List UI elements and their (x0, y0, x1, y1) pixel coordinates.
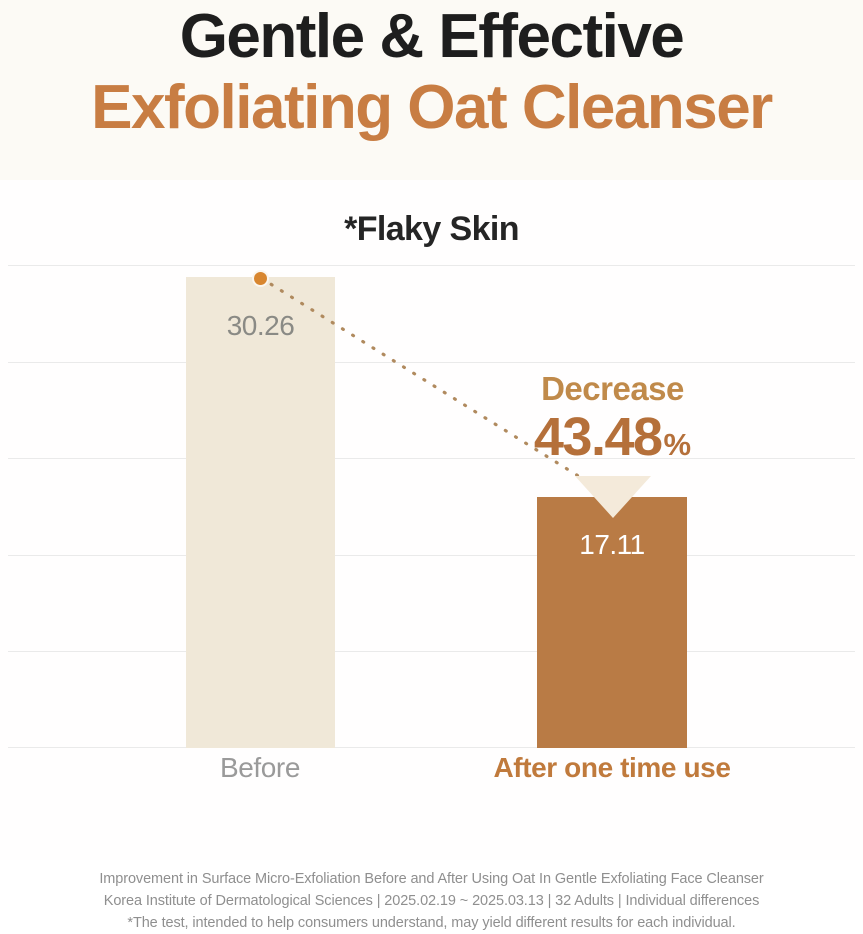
decrease-callout: Decrease 43.48 % (480, 370, 745, 518)
bar-value-after: 17.11 (537, 529, 687, 561)
down-arrow-icon (575, 476, 651, 518)
gridline (8, 555, 855, 556)
decrease-unit: % (664, 427, 692, 463)
decrease-label: Decrease (480, 370, 745, 408)
gridline (8, 747, 855, 748)
headline-primary: Gentle & Effective (180, 2, 684, 71)
gridline (8, 651, 855, 652)
chart-title: *Flaky Skin (0, 210, 863, 249)
bar-value-before: 30.26 (186, 310, 335, 342)
data-point-marker-before (252, 270, 269, 287)
gridline (8, 362, 855, 363)
headline-secondary: Exfoliating Oat Cleanser (91, 71, 772, 145)
gridline (8, 265, 855, 266)
bar-before[interactable]: 30.26 (186, 277, 335, 748)
footnote-line-3: *The test, intended to help consumers un… (0, 912, 863, 934)
axis-label-before: Before (160, 752, 360, 784)
axis-label-after: After one time use (472, 752, 752, 784)
plot-area: 30.26 17.11 Decrease 43.48 % (0, 265, 863, 748)
axis-labels: Before After one time use (0, 752, 863, 802)
footnote-line-2: Korea Institute of Dermatological Scienc… (0, 890, 863, 912)
footnote: Improvement in Surface Micro-Exfoliation… (0, 868, 863, 934)
footnote-line-1: Improvement in Surface Micro-Exfoliation… (0, 868, 863, 890)
decrease-value: 43.48 (534, 406, 662, 468)
header-banner: Gentle & Effective Exfoliating Oat Clean… (0, 0, 863, 180)
decrease-value-row: 43.48 % (480, 406, 745, 468)
chart-panel: *Flaky Skin 30.26 17.11 Decrease 43.48 % (0, 180, 863, 860)
bar-after[interactable]: 17.11 (537, 497, 687, 748)
